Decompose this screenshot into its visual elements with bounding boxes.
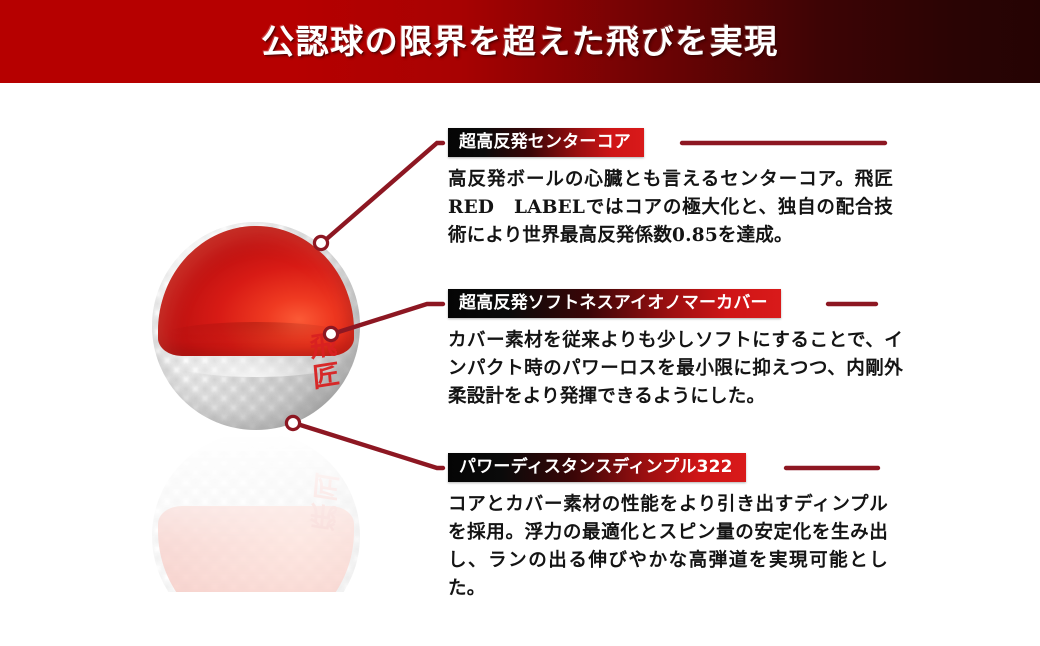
- callout-center-core: 超高反発センターコア 高反発ボールの心臓とも言えるセンターコア。飛匠RED LA…: [448, 128, 893, 250]
- callout-body-3: コアとカバー素材の性能をより引き出すディンプルを採用。浮力の最適化とスピン量の安…: [448, 491, 888, 603]
- golf-ball-cutaway-illustration: 飛匠: [152, 222, 360, 430]
- reflection-brand-logo: 飛匠: [296, 438, 355, 534]
- product-feature-infographic: 公認球の限界を超えた飛びを実現 飛匠 飛匠: [0, 0, 1040, 646]
- callout-label-1: 超高反発センターコア: [448, 128, 644, 157]
- callout-ionomer-cover: 超高反発ソフトネスアイオノマーカバー カバー素材を従来よりも少しソフトにすること…: [448, 289, 903, 411]
- golf-ball-outer-shell: 飛匠: [152, 222, 360, 430]
- callout-dimple: パワーディスタンスディンプル322 コアとカバー素材の性能をより引き出すディンプ…: [448, 453, 888, 603]
- reflection-shell: 飛匠: [152, 432, 360, 592]
- page-title: 公認球の限界を超えた飛びを実現: [0, 0, 1040, 83]
- header-banner: 公認球の限界を超えた飛びを実現: [0, 0, 1040, 83]
- brand-logo: 飛匠: [296, 328, 355, 424]
- callout-label-3: パワーディスタンスディンプル322: [448, 453, 746, 482]
- callout-body-1: 高反発ボールの心臓とも言えるセンターコア。飛匠RED LABELではコアの極大化…: [448, 166, 893, 250]
- callout-label-2: 超高反発ソフトネスアイオノマーカバー: [448, 289, 781, 318]
- golf-ball-reflection: 飛匠: [152, 432, 360, 592]
- callout-body-2: カバー素材を従来よりも少しソフトにすることで、インパクト時のパワーロスを最小限に…: [448, 327, 903, 411]
